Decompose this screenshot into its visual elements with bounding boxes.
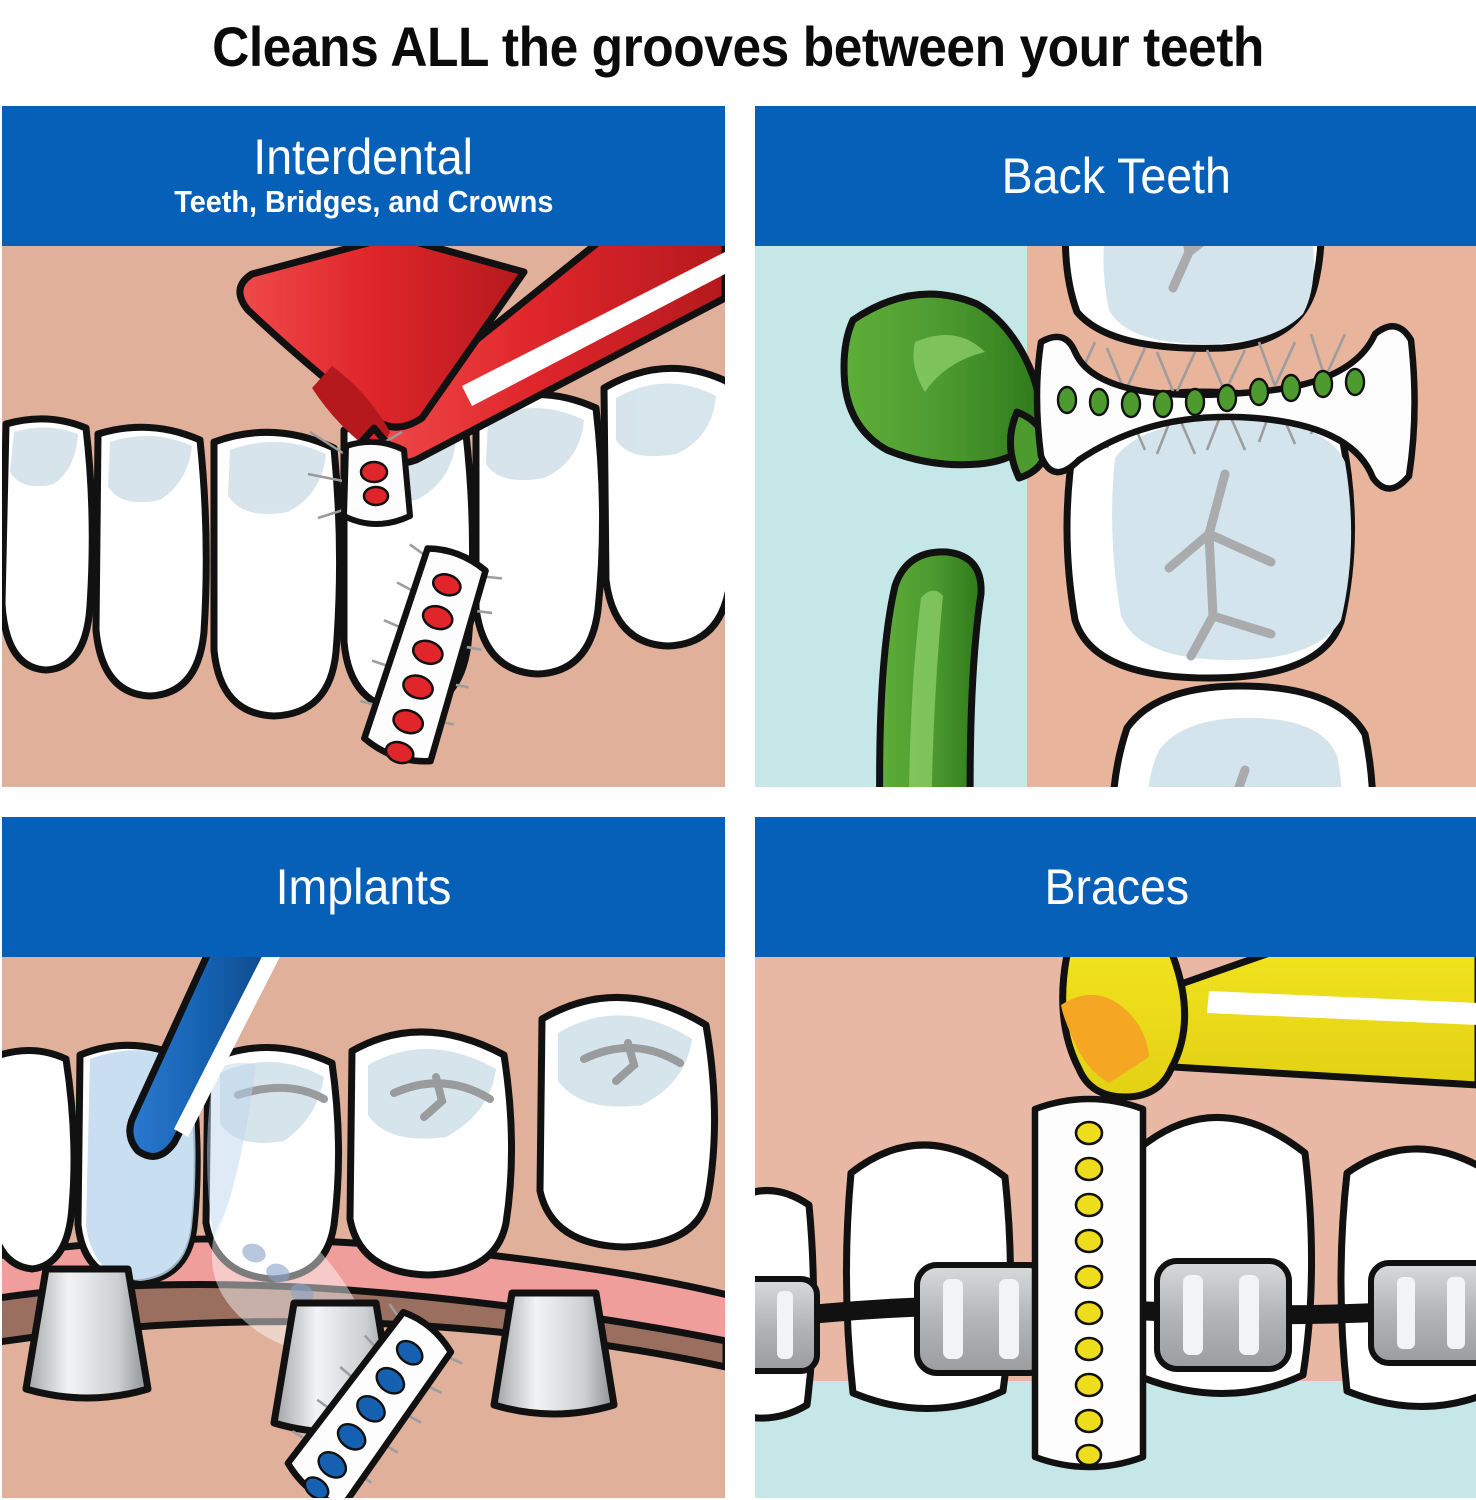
page-title: Cleans ALL the grooves between your teet… — [59, 0, 1417, 92]
panel-subtitle: Teeth, Bridges, and Crowns — [174, 185, 553, 219]
panel-header-braces: Braces — [755, 817, 1476, 957]
illustration-implants — [2, 957, 725, 1498]
brush-head-vertical — [1035, 1099, 1143, 1467]
panel-header-back-teeth: Back Teeth — [755, 106, 1476, 246]
panel-grid: Interdental Teeth, Bridges, and Crowns — [2, 106, 1474, 1498]
panel-title: Implants — [276, 862, 452, 913]
panel-interdental: Interdental Teeth, Bridges, and Crowns — [2, 106, 725, 787]
panel-header-interdental: Interdental Teeth, Bridges, and Crowns — [2, 106, 725, 246]
infographic-page: Cleans ALL the grooves between your teet… — [0, 0, 1476, 1500]
panel-title: Braces — [1044, 862, 1189, 913]
panel-braces: Braces — [755, 817, 1476, 1498]
illustration-back-teeth — [755, 246, 1476, 787]
panel-title: Interdental — [254, 132, 474, 183]
panel-back-teeth: Back Teeth — [755, 106, 1476, 787]
illustration-interdental — [2, 246, 725, 787]
panel-title: Back Teeth — [1002, 151, 1231, 202]
panel-implants: Implants — [2, 817, 725, 1498]
panel-header-implants: Implants — [2, 817, 725, 957]
illustration-braces — [755, 957, 1476, 1498]
